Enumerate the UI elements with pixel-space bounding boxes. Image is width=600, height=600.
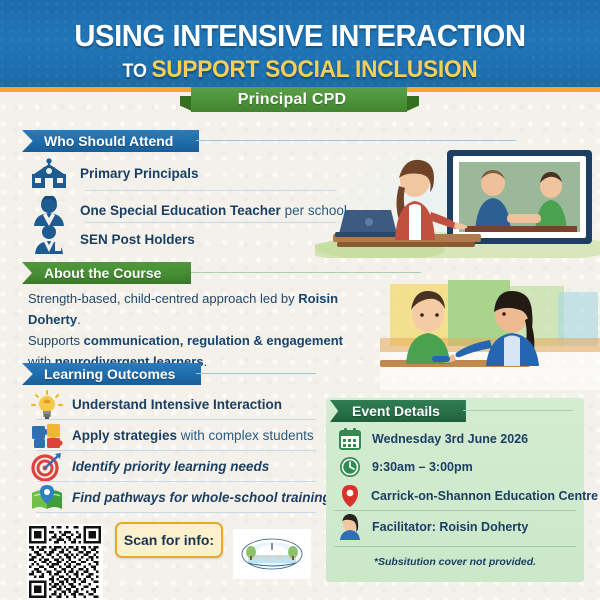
facilitator-avatar-icon: [338, 514, 362, 540]
list-item-label: Primary Principals: [80, 166, 199, 182]
page-title-line2-prefix: TO: [123, 61, 152, 82]
list-item: Understand Intensive Interaction: [30, 390, 282, 420]
list-item-label: Apply strategies with complex students: [72, 428, 314, 444]
list-item-bold: Understand Intensive Interaction: [72, 397, 282, 412]
list-item: Apply strategies with complex students: [30, 422, 314, 450]
about-line3-suffix: .: [204, 354, 208, 369]
school-building-icon: [28, 158, 70, 190]
poster-header: USING INTENSIVE INTERACTION TO SUPPORT S…: [0, 0, 600, 92]
list-item-bold: Apply strategies: [72, 428, 177, 443]
list-item: Identify priority learning needs: [30, 453, 269, 481]
outcome-divider-4: [36, 512, 316, 513]
puzzle-pieces-icon: [30, 422, 64, 450]
about-line-1: Strength-based, child-centred approach l…: [28, 288, 388, 330]
event-divider-1: [334, 510, 576, 511]
list-item: Find pathways for whole-school training: [30, 484, 331, 512]
scan-for-info-label: Scan for info:: [124, 532, 214, 548]
about-the-course-paragraph: Strength-based, child-centred approach l…: [28, 288, 388, 372]
subtitle-ribbon-tail-right: [405, 96, 419, 112]
about-line-2: Supports communication, regulation & eng…: [28, 330, 388, 351]
section-heading-about-the-course: About the Course: [22, 262, 187, 284]
who-row-divider-1: [86, 190, 336, 191]
who-should-attend-label: Who Should Attend: [44, 133, 173, 149]
suit-person-icon: [28, 226, 70, 254]
clock-icon: [338, 456, 362, 478]
outcome-divider-3: [36, 481, 316, 482]
outcome-divider-1: [36, 419, 316, 420]
who-heading-rule: [196, 140, 516, 141]
list-item-bold: Primary Principals: [80, 166, 199, 181]
list-item-label: Find pathways for whole-school training: [72, 490, 331, 506]
event-detail-row: Facilitator: Roisin Doherty: [338, 514, 528, 540]
section-heading-learning-outcomes: Learning Outcomes: [22, 363, 201, 385]
event-facilitator-text: Facilitator: Roisin Doherty: [372, 520, 528, 534]
event-heading-rule: [463, 410, 573, 411]
about-line1-prefix: Strength-based, child-centred approach l…: [28, 291, 298, 306]
list-item: Primary Principals: [28, 158, 199, 190]
page-title-line2: TO SUPPORT SOCIAL INCLUSION: [18, 56, 582, 84]
event-detail-row: Wednesday 3rd June 2026: [338, 428, 528, 450]
education-centre-logo: [233, 529, 311, 579]
list-item-label: SEN Post Holders: [80, 232, 195, 248]
scan-for-info-badge: Scan for info:: [115, 522, 223, 558]
list-item-bold: Identify priority learning needs: [72, 459, 269, 474]
subtitle-ribbon-label: Principal CPD: [238, 91, 360, 109]
learning-heading-rule: [196, 373, 316, 374]
list-item-label: Understand Intensive Interaction: [72, 397, 282, 413]
list-item-bold: One Special Education Teacher: [80, 203, 281, 218]
learning-outcomes-label: Learning Outcomes: [44, 366, 175, 382]
list-item: SEN Post Holders: [28, 226, 195, 254]
book-location-pin-icon: [30, 484, 64, 512]
event-date-text: Wednesday 3rd June 2026: [372, 432, 528, 446]
list-item-label: One Special Education Teacher per school: [80, 203, 347, 219]
event-time-text: 9:30am – 3:00pm: [372, 460, 473, 474]
about-line1-suffix: .: [77, 312, 81, 327]
who-row-divider-2: [86, 222, 336, 223]
list-item-rest: per school: [281, 203, 347, 218]
list-item-bold: SEN Post Holders: [80, 232, 195, 247]
calendar-icon: [338, 428, 362, 450]
location-pin-icon: [340, 484, 360, 508]
page-title-line2-highlight: SUPPORT SOCIAL INCLUSION: [151, 56, 477, 83]
section-heading-event-details: Event Details: [330, 400, 466, 422]
list-item-rest: with complex students: [177, 428, 314, 443]
event-footnote: *Subsitution cover not provided.: [326, 556, 584, 568]
target-icon: [30, 453, 64, 481]
list-item-label: Identify priority learning needs: [72, 459, 269, 475]
about-the-course-label: About the Course: [44, 265, 161, 281]
list-item-bold: Find pathways for whole-school training: [72, 490, 331, 505]
outcome-divider-2: [36, 450, 316, 451]
subtitle-ribbon: Principal CPD: [191, 87, 407, 112]
qr-code[interactable]: [27, 524, 103, 600]
woman-interacting-with-child-illustration: [380, 278, 600, 390]
about-line2-prefix: Supports: [28, 333, 84, 348]
poster-root: USING INTENSIVE INTERACTION TO SUPPORT S…: [0, 0, 600, 600]
event-detail-row: Carrick-on-Shannon Education Centre: [340, 484, 598, 508]
about-line2-bold: communication, regulation & engagement: [84, 333, 343, 348]
event-location-text: Carrick-on-Shannon Education Centre: [371, 489, 598, 503]
event-divider-2: [334, 546, 576, 547]
teacher-with-laptop-and-screen-illustration: [315, 136, 600, 258]
lightbulb-icon: [30, 390, 64, 420]
event-details-label: Event Details: [352, 403, 440, 419]
about-heading-rule: [191, 272, 421, 273]
page-title-line1: USING INTENSIVE INTERACTION: [18, 18, 582, 54]
event-detail-row: 9:30am – 3:00pm: [338, 456, 473, 478]
section-heading-who-should-attend: Who Should Attend: [22, 130, 199, 152]
teacher-person-icon: [28, 196, 70, 226]
